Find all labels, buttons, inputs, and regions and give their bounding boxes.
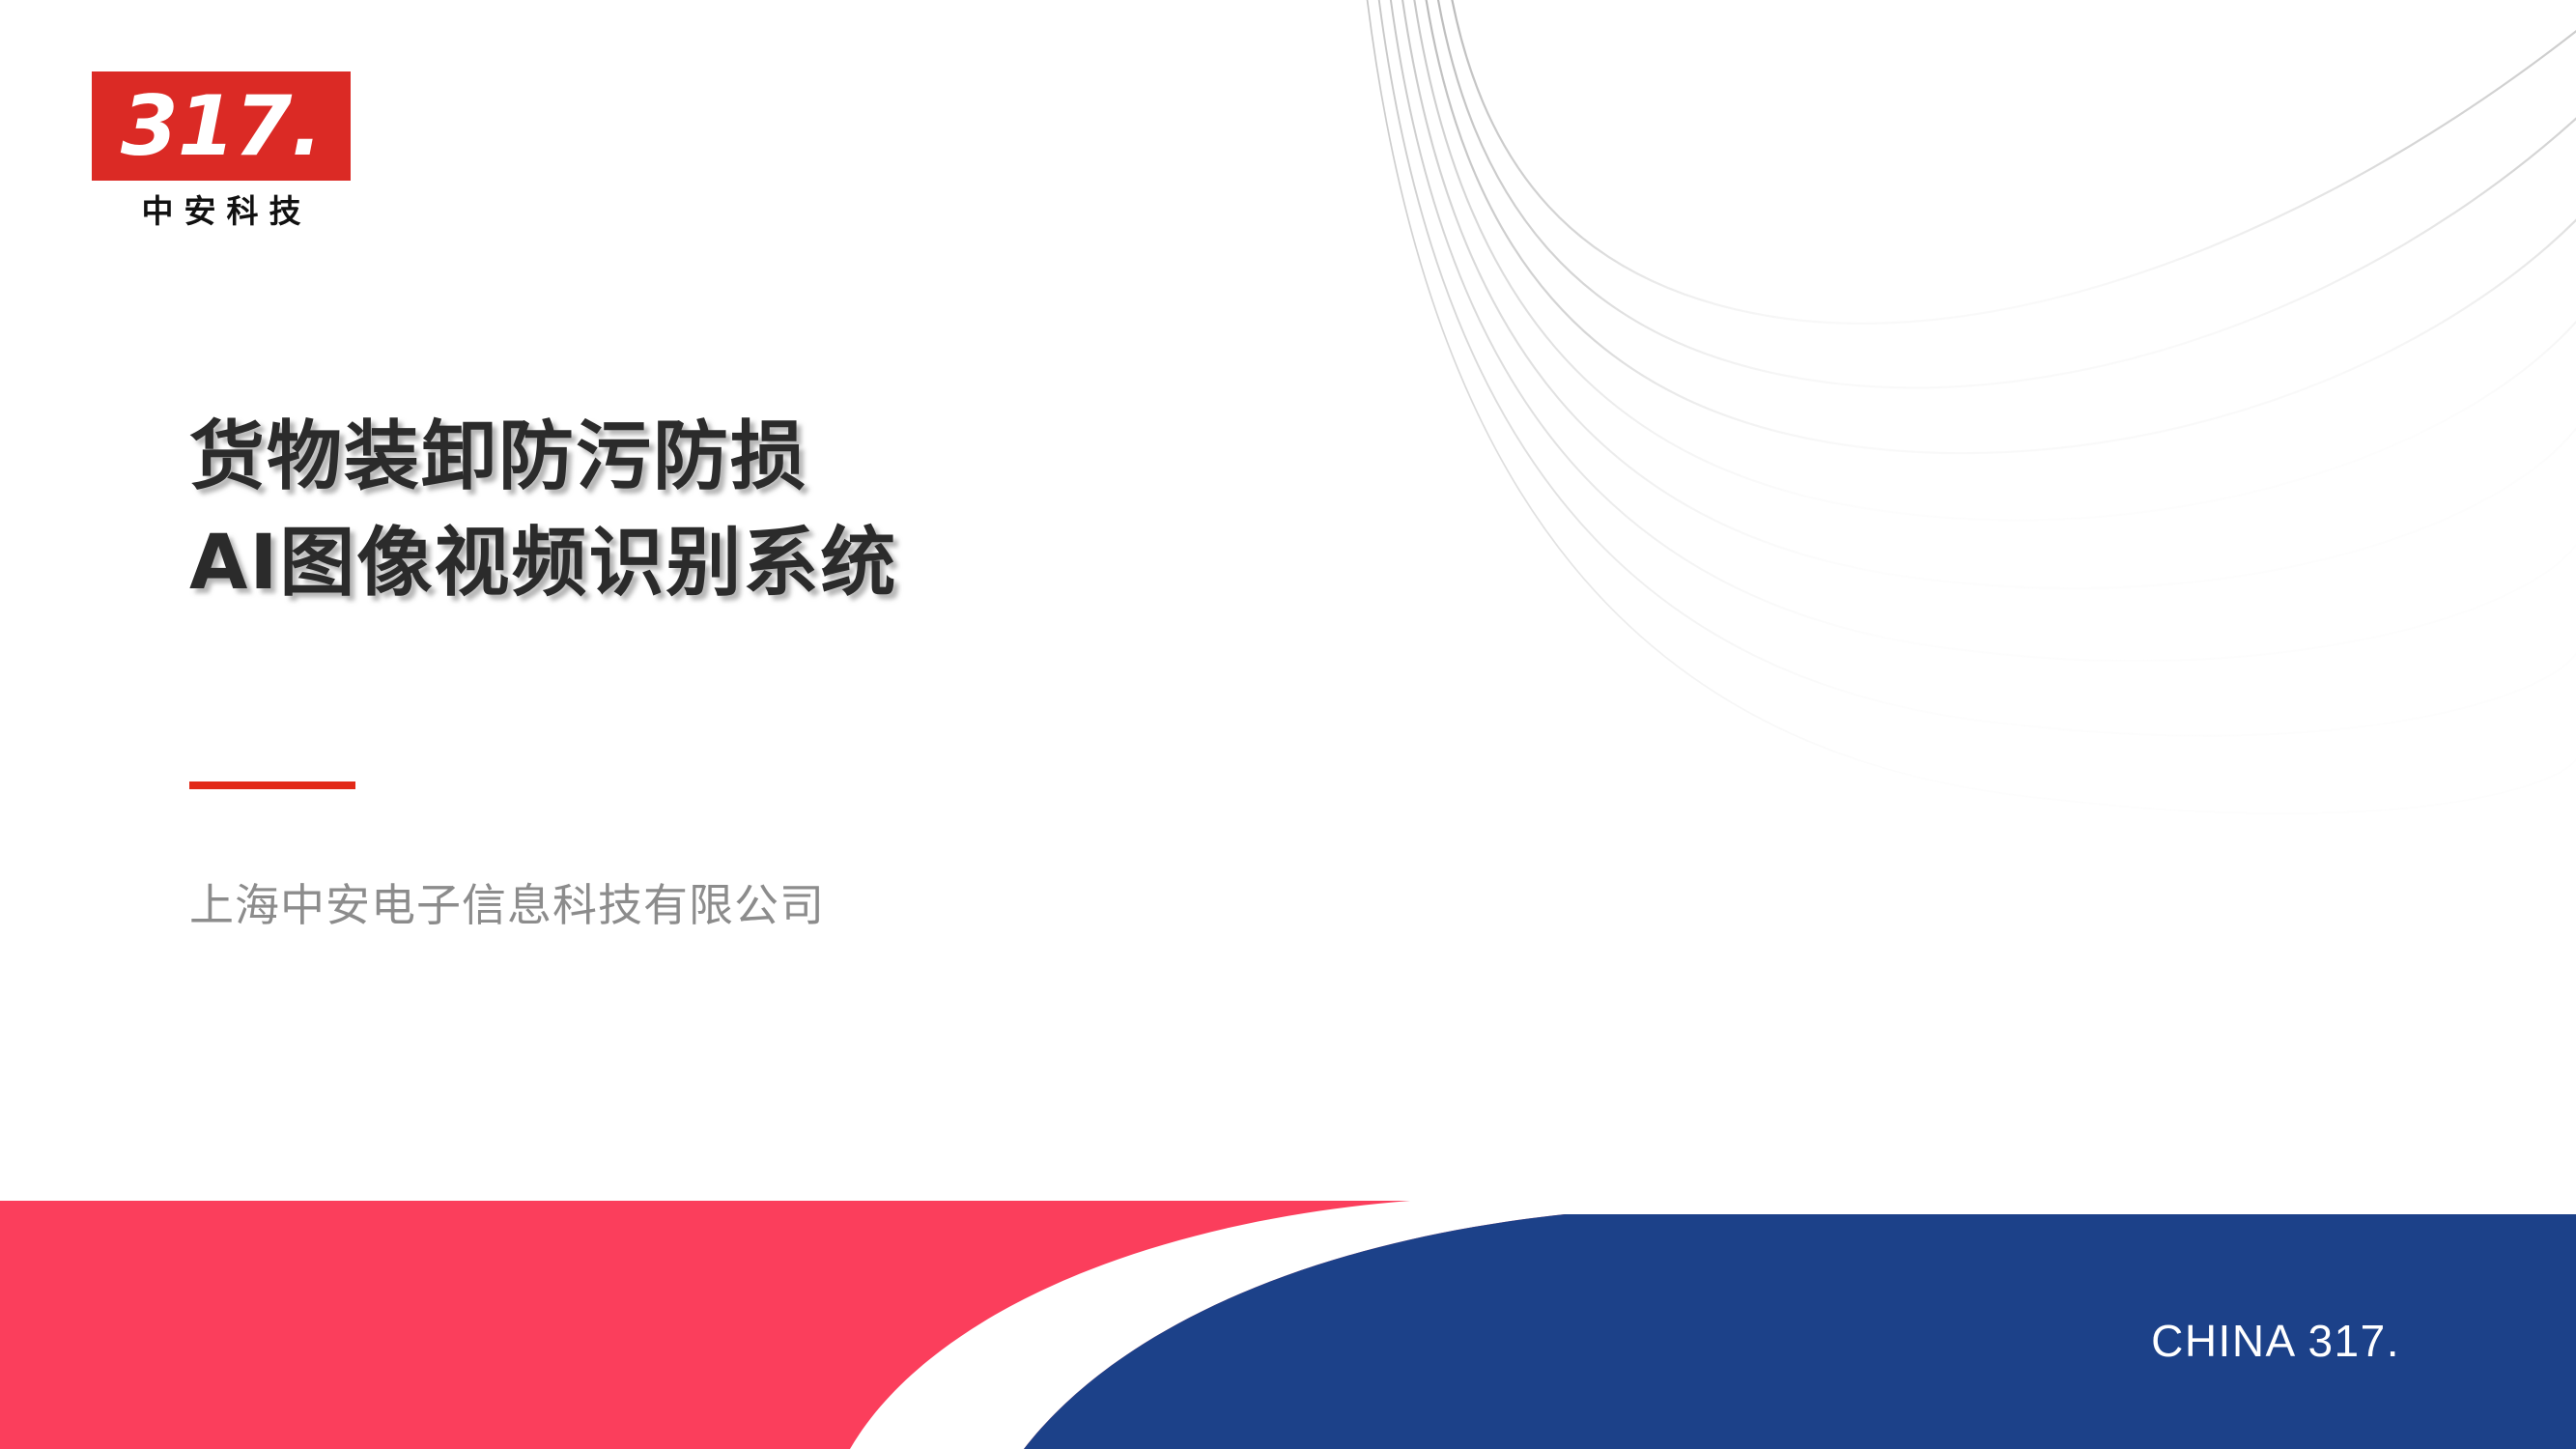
logo-mark-text: 317. [92,85,351,168]
page-title: 货物装卸防污防损 AI图像视频识别系统 [189,404,1348,616]
logo-subtext-zhongan: 中安科技 [92,194,351,229]
company-logo: 317. 中安科技 [92,71,351,229]
title-line-2: AI图像视频识别系统 [189,510,1348,616]
footer-banner: CHINA 317. [0,1201,2576,1449]
logo-mark-317: 317. [92,71,351,181]
subtitle-company-name: 上海中安电子信息科技有限公司 [189,877,825,933]
decorative-swoosh-lines [1333,0,2576,869]
title-line-1: 货物装卸防污防损 [189,404,1348,510]
slide-canvas: 317. 中安科技 货物装卸防污防损 AI图像视频识别系统 上海中安电子信息科技… [0,0,2576,1449]
red-divider-rule [189,781,355,789]
footer-brand-text: CHINA 317. [2151,1319,2400,1363]
